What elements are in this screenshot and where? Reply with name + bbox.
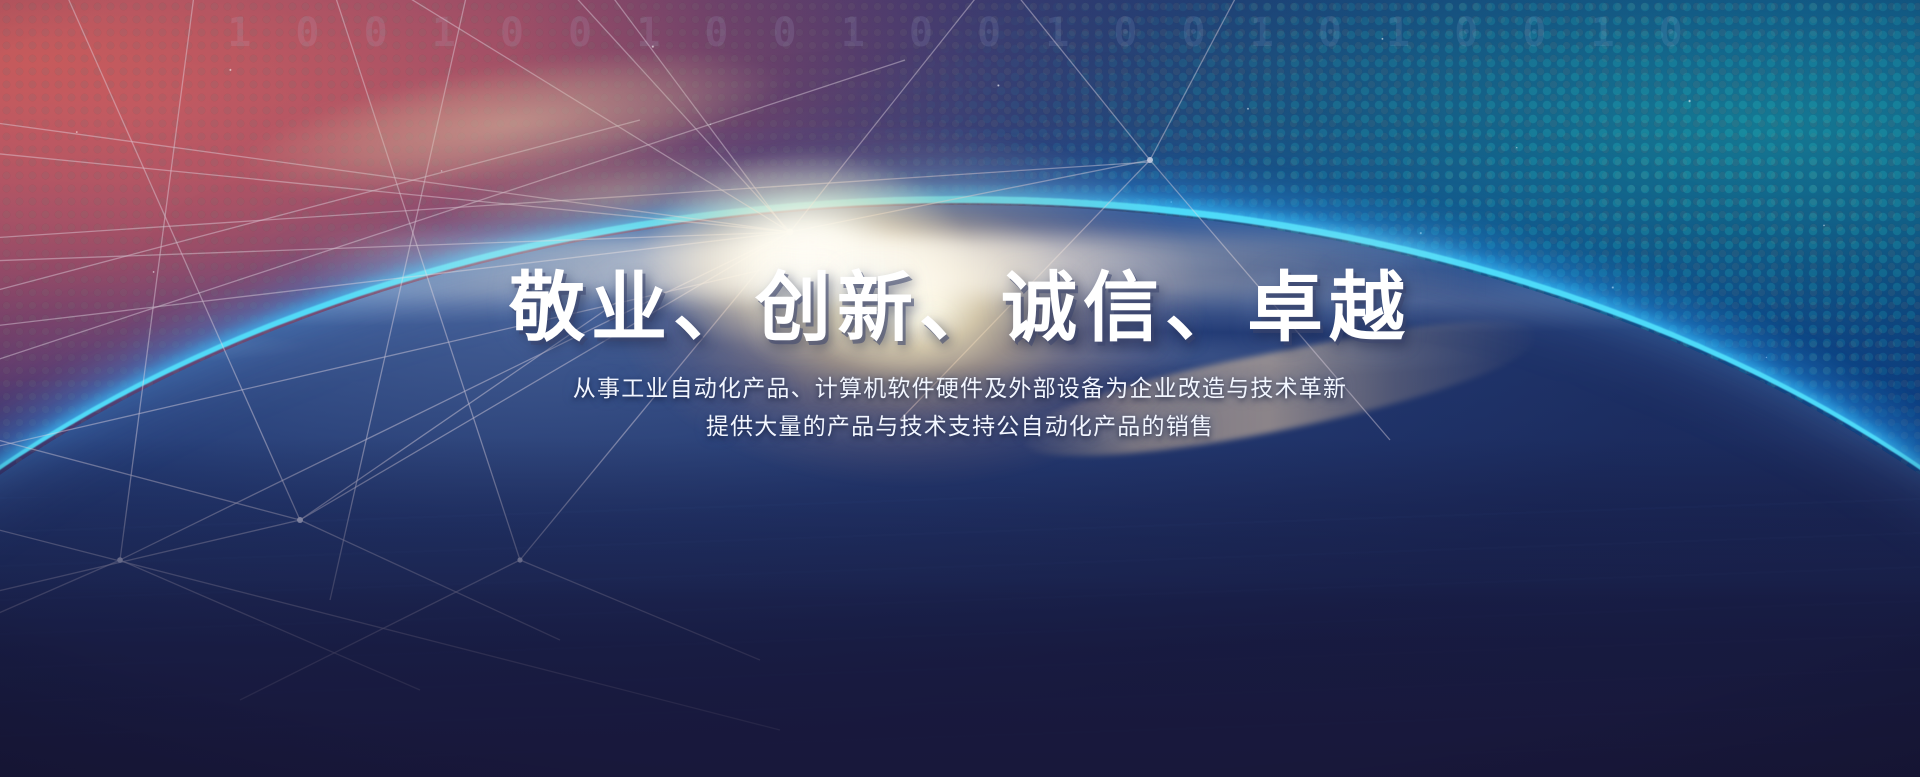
banner-headline: 敬业、创新、诚信、卓越 bbox=[0, 268, 1920, 348]
hero-banner: 1 0 0 1 0 0 1 0 0 1 0 0 1 0 0 1 0 1 0 0 … bbox=[0, 0, 1920, 777]
banner-subtitle-1: 从事工业自动化产品、计算机软件硬件及外部设备为企业改造与技术革新 bbox=[0, 372, 1920, 407]
banner-subtitle-2: 提供大量的产品与技术支持公自动化产品的销售 bbox=[0, 410, 1920, 445]
